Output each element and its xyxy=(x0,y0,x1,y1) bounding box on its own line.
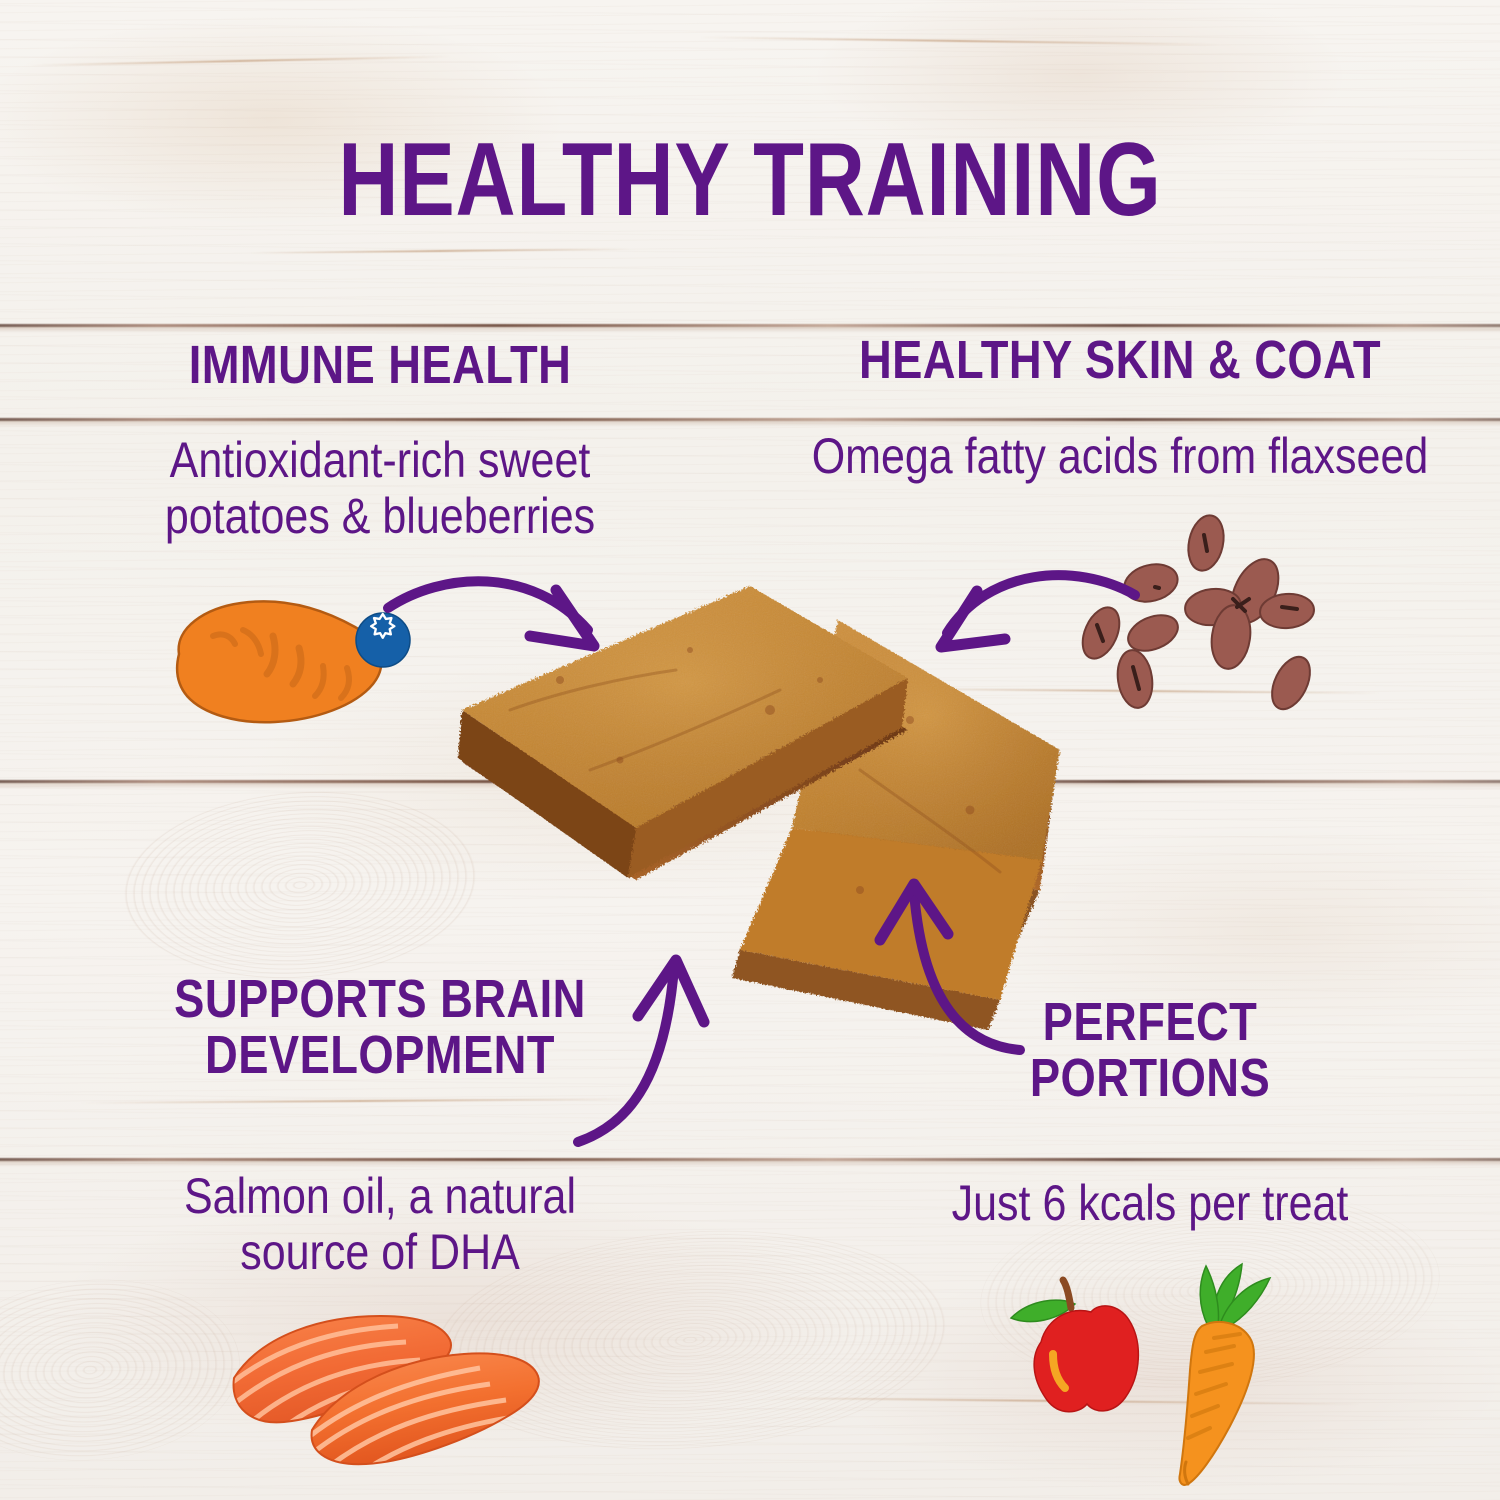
plank-seam xyxy=(0,324,1500,327)
feature-body-line: source of DHA xyxy=(79,1224,681,1280)
feature-heading-healthy-skin-and-coat: HEALTHY SKIN & COAT xyxy=(801,333,1439,389)
feature-heading-perfect-portions: PERFECT PORTIONS xyxy=(856,995,1444,1106)
feature-body-line: potatoes & blueberries xyxy=(53,488,707,544)
arrow-immune-to-treat xyxy=(380,560,640,690)
feature-body-healthy-skin-and-coat: Omega fatty acids from flaxseed xyxy=(793,428,1447,484)
apple-icon xyxy=(995,1272,1155,1432)
feature-body-line: Antioxidant-rich sweet xyxy=(53,432,707,488)
feature-body-line: Omega fatty acids from flaxseed xyxy=(793,428,1447,484)
plank-seam xyxy=(0,1158,1500,1161)
arrow-skin-to-treat xyxy=(925,555,1145,685)
feature-body-perfect-portions: Just 6 kcals per treat xyxy=(849,1175,1451,1231)
feature-body-supports-brain-development: Salmon oil, a natural source of DHA xyxy=(79,1168,681,1280)
feature-body-line: Just 6 kcals per treat xyxy=(849,1175,1451,1231)
feature-body-immune-health: Antioxidant-rich sweet potatoes & bluebe… xyxy=(53,432,707,544)
page-title: HEALTHY TRAINING xyxy=(150,128,1350,232)
carrot-icon xyxy=(1140,1260,1290,1490)
feature-heading-supports-brain-development: SUPPORTS BRAIN DEVELOPMENT xyxy=(86,972,674,1083)
feature-heading-line: SUPPORTS BRAIN xyxy=(86,972,674,1028)
plank-seam xyxy=(0,418,1500,421)
salmon-fillet-icon xyxy=(228,1298,548,1468)
feature-heading-line: PERFECT xyxy=(856,995,1444,1051)
feature-heading-immune-health: IMMUNE HEALTH xyxy=(61,338,699,394)
feature-heading-line: PORTIONS xyxy=(856,1051,1444,1107)
healthy-training-infographic: HEALTHY TRAINING IMMUNE HEALTH Antioxida… xyxy=(0,0,1500,1500)
feature-heading-line: DEVELOPMENT xyxy=(86,1028,674,1084)
feature-body-line: Salmon oil, a natural xyxy=(79,1168,681,1224)
